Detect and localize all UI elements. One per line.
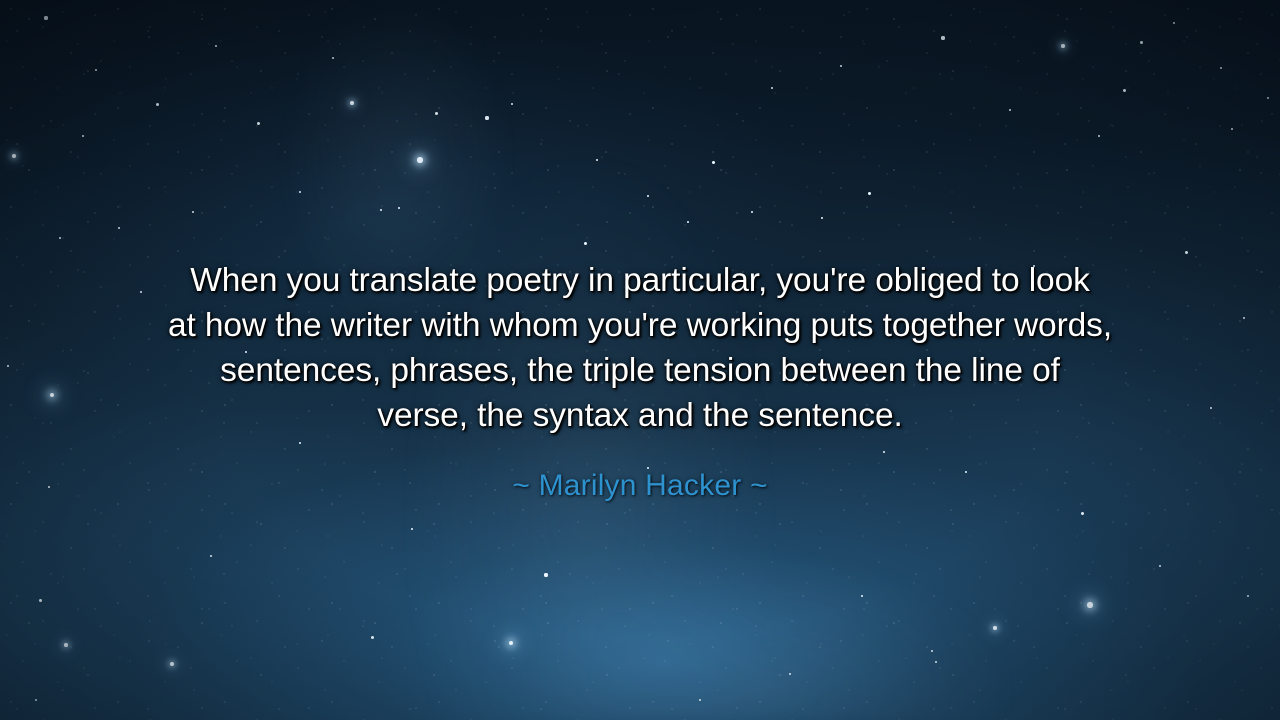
star-26 (398, 207, 400, 209)
star-36 (687, 221, 689, 223)
star-23 (485, 116, 488, 119)
star-70 (840, 65, 842, 67)
star-9 (64, 643, 68, 647)
star-15 (170, 662, 174, 666)
quote-attribution: ~ Marilyn Hacker ~ (60, 468, 1220, 504)
star-48 (1231, 128, 1234, 131)
star-1 (95, 69, 98, 72)
star-16 (210, 555, 213, 558)
star-39 (868, 192, 871, 195)
star-69 (771, 87, 774, 90)
star-46 (1123, 89, 1126, 92)
star-55 (1081, 512, 1084, 515)
star-43 (1140, 41, 1143, 44)
star-2 (12, 154, 16, 158)
quote-card: When you translate poetry in particular,… (0, 0, 1280, 720)
star-22 (435, 112, 438, 115)
star-34 (647, 195, 650, 198)
star-53 (1087, 602, 1092, 607)
star-30 (509, 641, 514, 646)
star-31 (544, 573, 547, 576)
star-17 (257, 122, 260, 125)
star-54 (993, 626, 997, 630)
star-20 (332, 57, 335, 60)
star-25 (380, 209, 383, 212)
star-8 (39, 599, 42, 602)
star-47 (1220, 67, 1223, 70)
star-35 (712, 161, 715, 164)
star-0 (44, 16, 47, 19)
star-18 (299, 191, 301, 193)
star-37 (751, 211, 754, 214)
star-32 (584, 242, 587, 245)
star-49 (1267, 97, 1269, 99)
star-10 (35, 699, 38, 702)
star-11 (156, 103, 159, 106)
star-19 (350, 101, 354, 105)
star-60 (861, 595, 864, 598)
star-67 (118, 227, 121, 230)
star-58 (931, 650, 934, 653)
star-44 (1173, 22, 1176, 25)
star-45 (1098, 135, 1101, 138)
star-62 (699, 699, 702, 702)
star-4 (59, 237, 62, 240)
star-29 (411, 528, 414, 531)
star-12 (192, 211, 195, 214)
star-61 (789, 673, 792, 676)
star-24 (511, 103, 514, 106)
star-41 (1009, 109, 1012, 112)
quote-text: When you translate poetry in particular,… (60, 258, 1220, 438)
star-14 (215, 45, 218, 48)
star-59 (935, 661, 937, 663)
star-21 (417, 157, 422, 162)
star-56 (1159, 565, 1162, 568)
star-38 (821, 217, 824, 220)
star-42 (1061, 44, 1064, 47)
star-50 (1185, 251, 1188, 254)
star-57 (1247, 595, 1250, 598)
star-28 (371, 636, 374, 639)
quote-text-block: When you translate poetry in particular,… (0, 258, 1280, 504)
star-33 (596, 159, 599, 162)
star-3 (82, 135, 84, 137)
star-40 (941, 36, 944, 39)
